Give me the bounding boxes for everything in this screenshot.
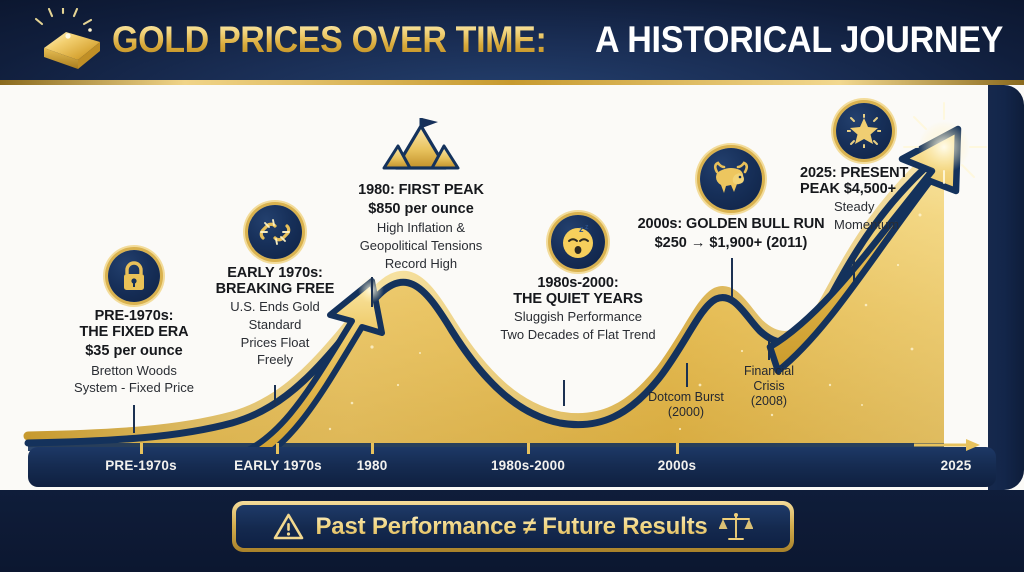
axis-label-pre-1970s: PRE-1970s bbox=[105, 458, 177, 473]
annotation-sub-line1: U.S. Ends Gold bbox=[186, 299, 364, 315]
axis-arrow-icon bbox=[914, 437, 984, 453]
svg-text:z: z bbox=[579, 224, 584, 234]
axis-tick bbox=[140, 443, 143, 454]
event-note-financial-crisis: Financial Crisis (2008) bbox=[728, 364, 810, 408]
annotation-price: $250 → $1,900+ (2011) bbox=[616, 234, 846, 252]
timeline-axis: PRE-1970s EARLY 1970s 1980 1980s-2000 20… bbox=[28, 447, 996, 487]
axis-label-1980s-2000: 1980s-2000 bbox=[491, 458, 565, 473]
annotation-sub-line3: Prices Float bbox=[186, 335, 364, 351]
axis-label-2000s: 2000s bbox=[658, 458, 697, 473]
right-navy-frame bbox=[988, 85, 1024, 490]
leader-line-present-peak-2025 bbox=[853, 258, 855, 282]
annotation-sub-line2: System - Fixed Price bbox=[44, 380, 224, 396]
axis-label-1980: 1980 bbox=[357, 458, 388, 473]
annotation-sub-line2: Momentum bbox=[834, 217, 980, 233]
disclaimer-text: Past Performance ≠ Future Results bbox=[315, 513, 707, 541]
leader-line-first-peak-1980 bbox=[371, 277, 373, 307]
event-note-line1: Dotcom Burst bbox=[633, 390, 739, 405]
leader-line-dotcom bbox=[686, 363, 688, 387]
event-note-dotcom: Dotcom Burst (2000) bbox=[633, 390, 739, 420]
annotation-sub-line2: Two Decades of Flat Trend bbox=[478, 327, 678, 343]
axis-label-early-1970s: EARLY 1970s bbox=[234, 458, 322, 473]
event-note-line2: Crisis bbox=[728, 379, 810, 394]
axis-tick bbox=[371, 443, 374, 454]
mountain-peak-flag-icon bbox=[378, 118, 464, 176]
annotation-title-line2: THE QUIET YEARS bbox=[478, 291, 678, 307]
balance-scales-icon bbox=[719, 512, 753, 542]
axis-tick bbox=[527, 443, 530, 454]
gold-bar-icon bbox=[22, 8, 108, 72]
leader-line-financial-crisis bbox=[768, 336, 770, 360]
star-burst-icon bbox=[836, 103, 892, 159]
event-note-line2: (2000) bbox=[633, 405, 739, 420]
title-white-part: A Historical Journey bbox=[595, 19, 1003, 61]
page-title: Gold Prices Over Time: A Historical Jour… bbox=[112, 19, 1024, 61]
leader-line-quiet-years bbox=[563, 380, 565, 406]
leader-line-golden-bull-run bbox=[731, 258, 733, 300]
broken-chain-icon bbox=[248, 205, 302, 259]
axis-tick bbox=[676, 443, 679, 454]
event-note-line1: Financial bbox=[728, 364, 810, 379]
axis-tick bbox=[276, 443, 279, 454]
leader-line-early-1970s bbox=[274, 385, 276, 407]
sleeping-face-icon: z z bbox=[551, 215, 605, 269]
svg-text:z: z bbox=[585, 224, 589, 231]
axis-label-2025: 2025 bbox=[941, 458, 972, 473]
annotation-title-line1: 2025: PRESENT bbox=[800, 165, 980, 181]
disclaimer-banner: Past Performance ≠ Future Results bbox=[232, 501, 794, 552]
lock-icon bbox=[108, 250, 160, 302]
bull-icon bbox=[700, 148, 762, 210]
annotation-sub-line4: Freely bbox=[186, 352, 364, 368]
annotation-sub-line1: Steady bbox=[834, 199, 980, 215]
leader-line-pre-1970s bbox=[133, 405, 135, 433]
annotation-title-line2: PEAK $4,500+ bbox=[800, 181, 980, 197]
annotation-title-line1: 1980: FIRST PEAK bbox=[318, 182, 524, 198]
header-banner: Gold Prices Over Time: A Historical Jour… bbox=[0, 0, 1024, 80]
event-note-line3: (2008) bbox=[728, 394, 810, 409]
title-gold-part: Gold Prices Over Time: bbox=[112, 19, 546, 61]
annotation-present-peak-2025: 2025: PRESENT PEAK $4,500+ Steady Moment… bbox=[800, 103, 980, 233]
annotation-title-line1: 1980s-2000: bbox=[478, 275, 678, 291]
infographic-root: Gold Prices Over Time: A Historical Jour… bbox=[0, 0, 1024, 572]
warning-triangle-icon bbox=[273, 513, 304, 541]
annotation-title-line2: BREAKING FREE bbox=[186, 281, 364, 297]
annotation-sub-line1: Sluggish Performance bbox=[478, 309, 678, 325]
annotation-sub-line2: Standard bbox=[186, 317, 364, 333]
